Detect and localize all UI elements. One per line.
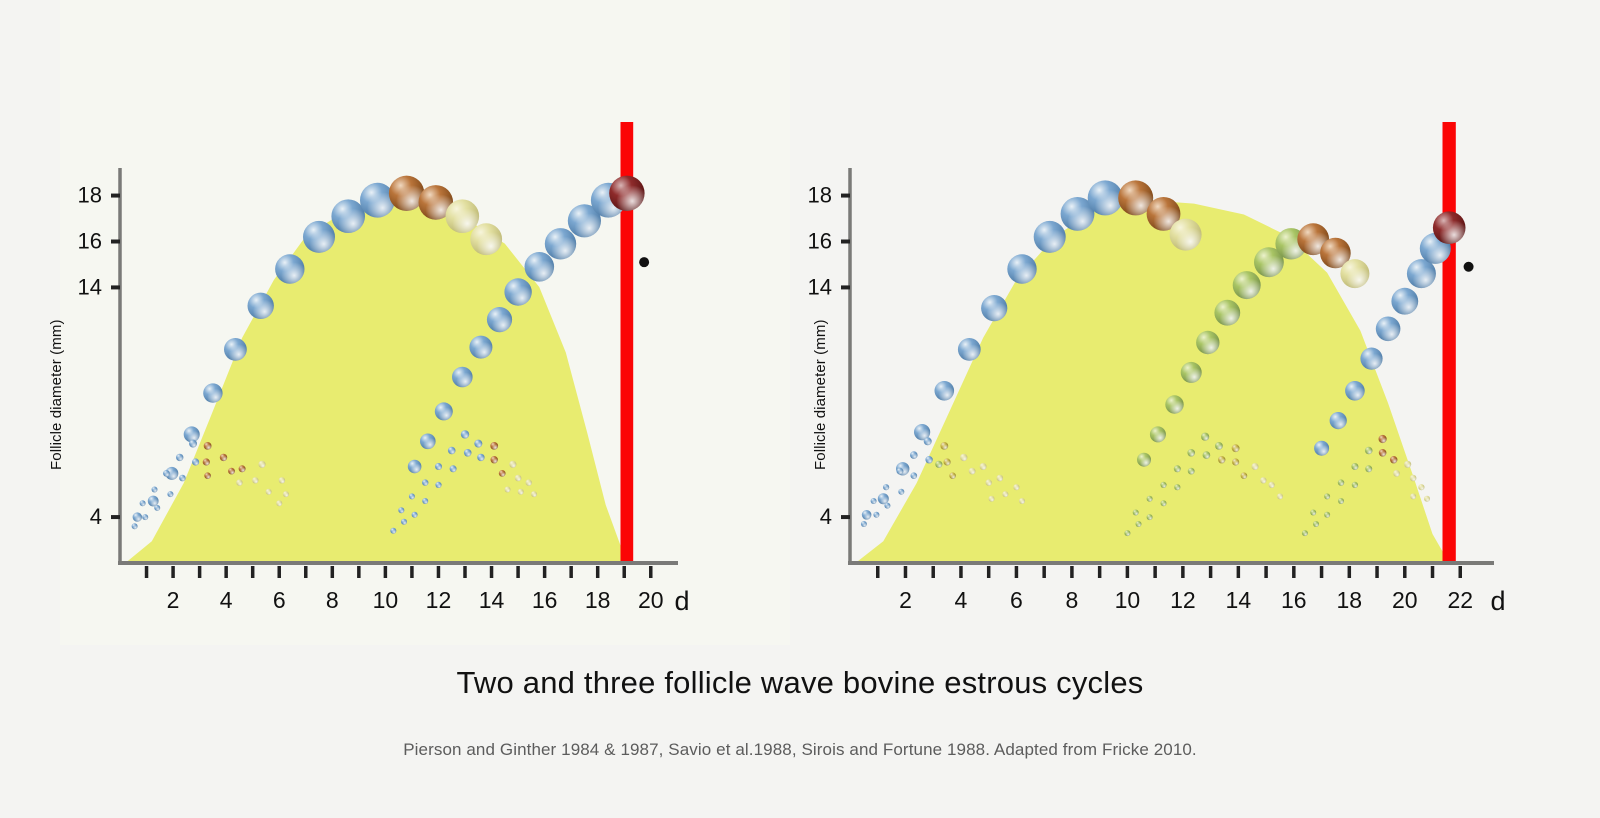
x-tick-label: 8 [326,587,339,613]
dominant-follicle [1330,412,1347,429]
subordinate-follicle [435,463,442,470]
dominant-follicle [1233,271,1261,299]
x-tick-label: 16 [1281,587,1307,613]
dominant-follicle [958,338,981,361]
subordinate-follicle [924,437,932,445]
subordinate-follicle [1365,465,1372,472]
subordinate-follicle [940,442,948,450]
subordinate-follicle [450,465,457,472]
dominant-follicle [1007,254,1036,283]
ovulation-dot [1464,262,1474,272]
x-tick-label: 8 [1066,587,1079,613]
subordinate-follicle [1418,484,1424,490]
dominant-follicle [148,496,159,507]
subordinate-follicle [409,493,415,499]
subordinate-follicle [490,442,498,450]
y-tick-label: 16 [78,228,102,253]
x-tick-label: 22 [1447,587,1473,613]
x-tick-label: 18 [1337,587,1363,613]
y-tick-label: 14 [808,274,832,299]
dominant-follicle [331,199,365,233]
subordinate-follicle [1133,510,1139,516]
subordinate-follicle [509,461,516,468]
subordinate-follicle [1147,514,1153,520]
subordinate-follicle [176,454,183,461]
dominant-follicle [1181,362,1202,383]
dominant-follicle [470,223,502,255]
subordinate-follicle [412,512,418,518]
subordinate-follicle [203,458,210,465]
subordinate-follicle [944,458,951,465]
dominant-follicle [878,493,889,504]
subordinate-follicle [390,528,396,534]
dominant-follicle [1345,381,1365,401]
dominant-follicle [469,336,492,359]
subordinate-follicle [491,456,498,463]
dominant-follicle [1433,211,1466,244]
subordinate-follicle [1379,449,1387,457]
subordinate-follicle [464,449,472,457]
subordinate-follicle [873,512,879,518]
dominant-follicle [862,510,872,520]
subordinate-follicle [969,468,976,475]
x-axis-unit: d [674,586,689,616]
subordinate-follicle [505,487,511,493]
figure-stage: 41416182468101214161820d Follicle diamet… [0,0,1600,818]
subordinate-follicle [1424,496,1430,502]
subordinate-follicle [189,440,197,448]
dominant-follicle [1137,453,1151,467]
subordinate-follicle [515,475,522,482]
subordinate-follicle [435,482,441,488]
dominant-follicle [1214,300,1240,326]
dominant-follicle [1340,259,1369,288]
subordinate-follicle [1269,482,1275,488]
y-tick-label: 18 [808,183,832,208]
dominant-follicle [446,199,480,233]
dominant-follicle [360,183,395,218]
subordinate-follicle [980,463,987,470]
subordinate-follicle [1160,482,1166,488]
dominant-follicle [133,512,142,521]
subordinate-follicle [531,491,537,497]
dominant-follicle [1360,348,1382,370]
x-tick-label: 2 [167,587,180,613]
subordinate-follicle [1174,484,1180,490]
subordinate-follicle [1203,451,1211,459]
subordinate-follicle [871,498,877,504]
x-tick-label: 12 [426,587,452,613]
subordinate-follicle [1338,498,1344,504]
x-tick-label: 20 [1392,587,1418,613]
three-wave-plot: 4141618246810121416182022d [790,0,1600,645]
subordinate-follicle [518,489,524,495]
dominant-follicle [420,434,436,450]
subordinate-follicle [220,454,227,461]
subordinate-follicle [861,521,867,527]
subordinate-follicle [499,470,506,477]
subordinate-follicle [239,465,246,472]
figure-title: Two and three follicle wave bovine estro… [0,665,1600,701]
dominant-follicle [935,381,955,401]
dominant-follicle [1165,395,1183,413]
subordinate-follicle [252,477,258,483]
y-axis-label-right: Follicle diameter (mm) [812,319,829,470]
subordinate-follicle [1338,479,1344,485]
dominant-follicle [525,252,555,282]
dominant-follicle [1170,219,1202,251]
y-tick-label: 14 [78,274,102,299]
subordinate-follicle [1019,498,1025,504]
subordinate-follicle [1393,470,1400,477]
subordinate-follicle [258,461,265,468]
x-tick-label: 6 [273,587,286,613]
subordinate-follicle [276,500,282,506]
subordinate-follicle [986,479,992,485]
subordinate-follicle [1324,493,1330,499]
subordinate-follicle [1201,433,1209,441]
subordinate-follicle [461,430,469,438]
subordinate-follicle [1379,435,1387,443]
subordinate-follicle [949,472,956,479]
subordinate-follicle [179,475,186,482]
subordinate-follicle [910,451,918,459]
subordinate-follicle [236,479,242,485]
dominant-follicle [1196,331,1219,354]
subordinate-follicle [279,477,285,483]
subordinate-follicle [1215,442,1223,450]
subordinate-follicle [1241,472,1248,479]
dominant-follicle [1407,259,1436,288]
dominant-follicle [203,383,222,402]
dominant-follicle [545,228,576,259]
dominant-follicle [1391,288,1418,315]
dominant-follicle [609,176,644,211]
x-tick-label: 14 [1226,587,1252,613]
subordinate-follicle [140,500,146,506]
dominant-follicle [275,254,304,283]
subordinate-follicle [1136,521,1142,527]
subordinate-follicle [266,489,272,495]
subordinate-follicle [1002,491,1008,497]
subordinate-follicle [1277,493,1283,499]
subordinate-follicle [935,461,942,468]
subordinate-follicle [1161,500,1167,506]
subordinate-follicle [989,496,995,502]
subordinate-follicle [1351,463,1358,470]
dominant-follicle [1314,441,1329,456]
y-tick-label: 16 [808,228,832,253]
subordinate-follicle [422,498,428,504]
subordinate-follicle [1232,444,1240,452]
subordinate-follicle [898,489,904,495]
x-tick-label: 10 [1115,587,1141,613]
subordinate-follicle [1218,456,1225,463]
x-tick-label: 4 [220,587,233,613]
subordinate-follicle [1260,477,1266,483]
dominant-follicle [1034,221,1066,253]
x-tick-label: 6 [1010,587,1023,613]
subordinate-follicle [997,475,1004,482]
subordinate-follicle [1013,484,1019,490]
dominant-follicle [224,338,247,361]
subordinate-follicle [163,470,170,477]
subordinate-follicle [1147,496,1153,502]
subordinate-follicle [283,491,289,497]
chart-two-wave: 41416182468101214161820d Follicle diamet… [0,0,790,645]
x-tick-label: 16 [532,587,558,613]
subordinate-follicle [1188,468,1195,475]
dominant-follicle [487,307,512,332]
subordinate-follicle [192,458,199,465]
subordinate-follicle [1324,512,1330,518]
subordinate-follicle [925,456,932,463]
subordinate-follicle [477,454,484,461]
chart-three-wave: 4141618246810121416182022d Follicle diam… [790,0,1600,645]
subordinate-follicle [1365,447,1373,455]
subordinate-follicle [1302,530,1308,536]
subordinate-follicle [398,507,404,513]
subordinate-follicle [167,491,173,497]
two-wave-plot: 41416182468101214161820d [0,0,790,645]
subordinate-follicle [1404,461,1411,468]
dominant-follicle [981,295,1007,321]
subordinate-follicle [1410,493,1416,499]
subordinate-follicle [1252,463,1259,470]
x-tick-label: 12 [1170,587,1196,613]
dominant-follicle [1088,180,1123,215]
dominant-follicle [504,278,531,305]
x-tick-label: 18 [585,587,611,613]
subordinate-follicle [1352,482,1358,488]
subordinate-follicle [1187,449,1195,457]
dominant-follicle [435,402,453,420]
dominant-follicle [248,293,274,319]
dominant-follicle [452,367,473,388]
subordinate-follicle [1310,510,1316,516]
subordinate-follicle [1174,465,1181,472]
y-tick-label: 4 [90,504,102,529]
subordinate-follicle [132,523,138,529]
subordinate-follicle [884,503,890,509]
x-axis-unit: d [1490,586,1505,616]
subordinate-follicle [154,505,160,511]
dominant-follicle [1150,426,1166,442]
x-tick-label: 20 [638,587,664,613]
subordinate-follicle [204,472,211,479]
subordinate-follicle [422,479,428,485]
y-axis-label-left: Follicle diameter (mm) [48,319,65,470]
subordinate-follicle [1232,458,1239,465]
ovulation-dot [639,257,649,267]
subordinate-follicle [474,440,482,448]
dominant-follicle [408,460,422,474]
subordinate-follicle [142,514,148,520]
subordinate-follicle [1124,530,1130,536]
x-tick-label: 4 [955,587,968,613]
estrus-ovulation-bar [1443,122,1456,563]
subordinate-follicle [883,484,889,490]
subordinate-follicle [526,479,532,485]
subordinate-follicle [911,472,918,479]
x-tick-label: 10 [373,587,399,613]
subordinate-follicle [1313,521,1319,527]
subordinate-follicle [1410,475,1417,482]
y-tick-label: 18 [78,183,102,208]
subordinate-follicle [152,487,158,493]
x-tick-label: 2 [899,587,912,613]
subordinate-follicle [960,454,967,461]
x-tick-label: 14 [479,587,505,613]
figure-citation: Pierson and Ginther 1984 & 1987, Savio e… [0,740,1600,760]
subordinate-follicle [448,447,456,455]
y-tick-label: 4 [820,504,832,529]
dominant-follicle [303,221,335,253]
subordinate-follicle [1390,456,1397,463]
dominant-follicle [1376,317,1401,342]
subordinate-follicle [401,519,407,525]
subordinate-follicle [228,468,235,475]
subordinate-follicle [897,468,904,475]
subordinate-follicle [204,442,212,450]
